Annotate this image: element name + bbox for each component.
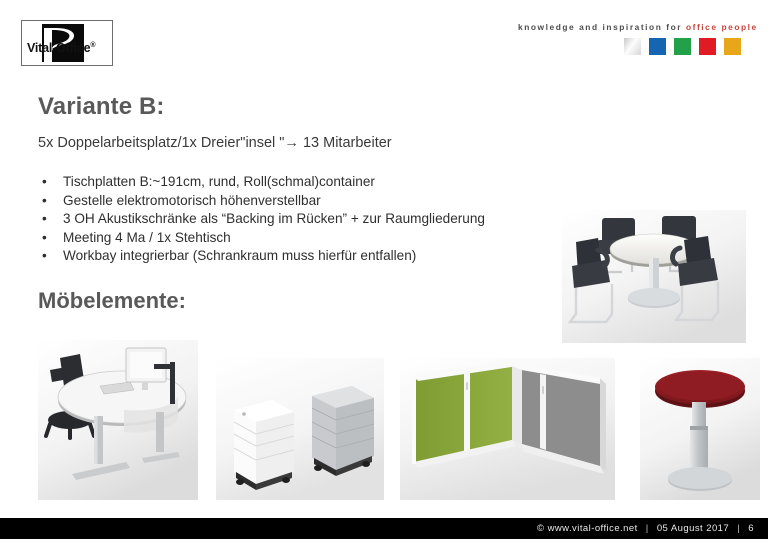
swatch-blue: [649, 38, 666, 55]
header-tagline: knowledge and inspiration for office peo…: [518, 22, 758, 32]
swatch-red: [699, 38, 716, 55]
page-title: Variante B:: [38, 93, 164, 121]
bullet-marker: •: [42, 210, 47, 229]
height-adjustable-desk-image: [38, 340, 198, 500]
bullet-marker: •: [42, 192, 47, 211]
tagline-plain: knowledge and inspiration for: [518, 22, 686, 32]
footer-separator: |: [732, 523, 745, 534]
page-subtitle: 5x Doppelarbeitsplatz/1x Dreier"insel "→…: [38, 135, 392, 151]
list-item-label: Meeting 4 Ma / 1x Stehtisch: [63, 230, 231, 245]
list-item: • Gestelle elektromotorisch höhenverstel…: [38, 192, 578, 211]
logo-registered-mark: ®: [90, 42, 95, 49]
roll-container-image: [216, 358, 384, 500]
round-meeting-table-image: [562, 210, 746, 343]
bullet-marker: •: [42, 229, 47, 248]
list-item: • Tischplatten B:~191cm, rund, Roll(schm…: [38, 173, 578, 192]
footer-text: © www.vital-office.net | 05 August 2017 …: [537, 523, 754, 534]
swatch-silver: [624, 38, 641, 55]
list-item: • 3 OH Akustikschränke als “Backing im R…: [38, 210, 578, 229]
list-item: • Meeting 4 Ma / 1x Stehtisch: [38, 229, 578, 248]
list-item-label: Tischplatten B:~191cm, rund, Roll(schmal…: [63, 174, 375, 189]
standing-table-image: [640, 358, 760, 500]
feature-bullet-list: • Tischplatten B:~191cm, rund, Roll(schm…: [38, 173, 578, 266]
footer-date: 05 August 2017: [657, 523, 729, 534]
section-title-furniture: Möbelemente:: [38, 288, 186, 314]
logo-wordmark-text: Vital-Office: [27, 41, 90, 55]
list-item-label: Gestelle elektromotorisch höhenverstellb…: [63, 193, 321, 208]
footer-site-link[interactable]: www.vital-office.net: [548, 523, 638, 534]
logo-wordmark: Vital-Office®: [27, 41, 95, 55]
bullet-marker: •: [42, 173, 47, 192]
footer-separator: |: [641, 523, 654, 534]
footer-page-number: 6: [748, 523, 754, 534]
list-item: • Workbay integrierbar (Schrankraum muss…: [38, 247, 578, 266]
list-item-label: Workbay integrierbar (Schrankraum muss h…: [63, 248, 416, 263]
slide-canvas: Vital-Office® knowledge and inspiration …: [0, 0, 768, 543]
swatch-gold: [724, 38, 741, 55]
tagline-accent: office people: [686, 22, 758, 32]
swatch-green: [674, 38, 691, 55]
list-item-label: 3 OH Akustikschränke als “Backing im Rüc…: [63, 211, 485, 226]
bullet-marker: •: [42, 247, 47, 266]
brand-swatch-row: [624, 38, 741, 55]
copyright-symbol: ©: [537, 523, 544, 534]
acoustic-cabinet-image: [400, 358, 615, 500]
